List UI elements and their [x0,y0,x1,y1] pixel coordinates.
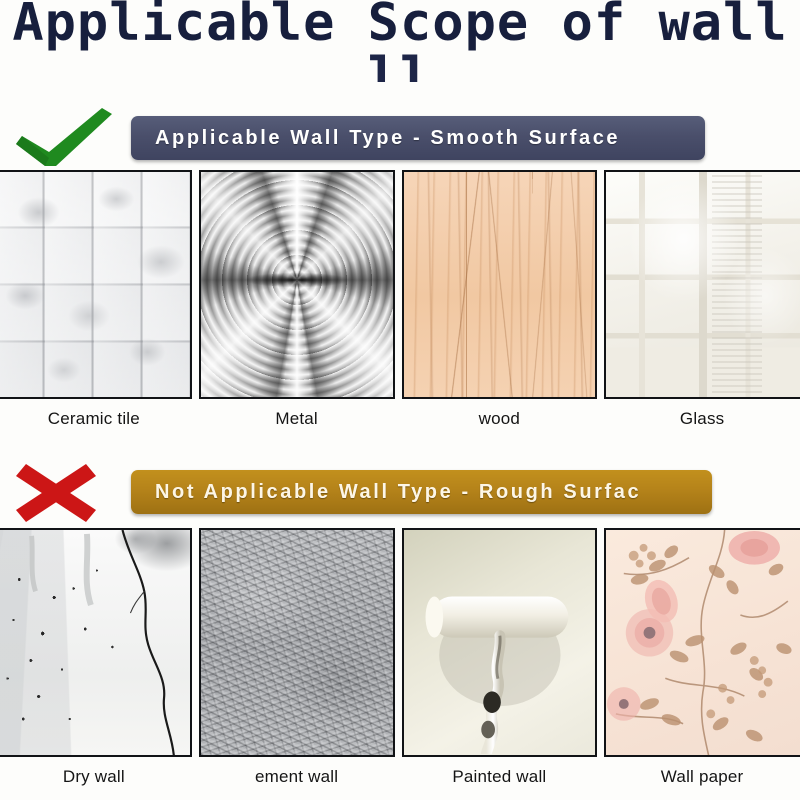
surface-card-ceramic-tile[interactable]: Ceramic tile [0,170,192,440]
surface-caption: Ceramic tile [0,409,192,429]
green-check-icon [8,108,120,170]
section-header-not-applicable: Not Applicable Wall Type - Rough Surfac [0,462,800,524]
page-title: Applicable Scope of wall ll [0,0,800,82]
floral-wallpaper-swatch [604,528,800,757]
red-cross-icon [8,462,120,524]
surface-card-wall-paper[interactable]: Wall paper [604,528,800,798]
surface-caption: Dry wall [0,767,192,787]
surface-caption: Painted wall [402,767,598,787]
surface-card-metal[interactable]: Metal [199,170,395,440]
applicable-surface-grid: Ceramic tile Metal wood Glass [0,170,800,440]
paint-roller-swatch [402,528,598,757]
page-title-line-1: Applicable Scope of wall [0,0,800,50]
surface-card-painted-wall[interactable]: Painted wall [402,528,598,798]
cement-wall-swatch [199,528,395,757]
surface-card-wood[interactable]: wood [402,170,598,440]
page-title-line-2: ll [0,50,800,82]
banner-applicable-label: Applicable Wall Type - Smooth Surface [131,127,620,150]
ceramic-tile-swatch [0,170,192,399]
glass-window-swatch [604,170,800,399]
surface-card-dry-wall[interactable]: Dry wall [0,528,192,798]
banner-applicable: Applicable Wall Type - Smooth Surface [131,116,705,160]
banner-not-applicable-label: Not Applicable Wall Type - Rough Surfac [131,481,641,504]
product-infographic: Applicable Scope of wall ll Applicable W… [0,0,800,800]
cracked-drywall-swatch [0,528,192,757]
brushed-metal-swatch [199,170,395,399]
wood-grain-swatch [402,170,598,399]
surface-caption: Wall paper [604,767,800,787]
surface-card-glass[interactable]: Glass [604,170,800,440]
surface-caption: wood [402,409,598,429]
not-applicable-surface-grid: Dry wall ement wall [0,528,800,798]
surface-card-cement-wall[interactable]: ement wall [199,528,395,798]
section-header-applicable: Applicable Wall Type - Smooth Surface [0,108,800,170]
surface-caption: Metal [199,409,395,429]
banner-not-applicable: Not Applicable Wall Type - Rough Surfac [131,470,712,514]
surface-caption: ement wall [199,767,395,787]
surface-caption: Glass [604,409,800,429]
